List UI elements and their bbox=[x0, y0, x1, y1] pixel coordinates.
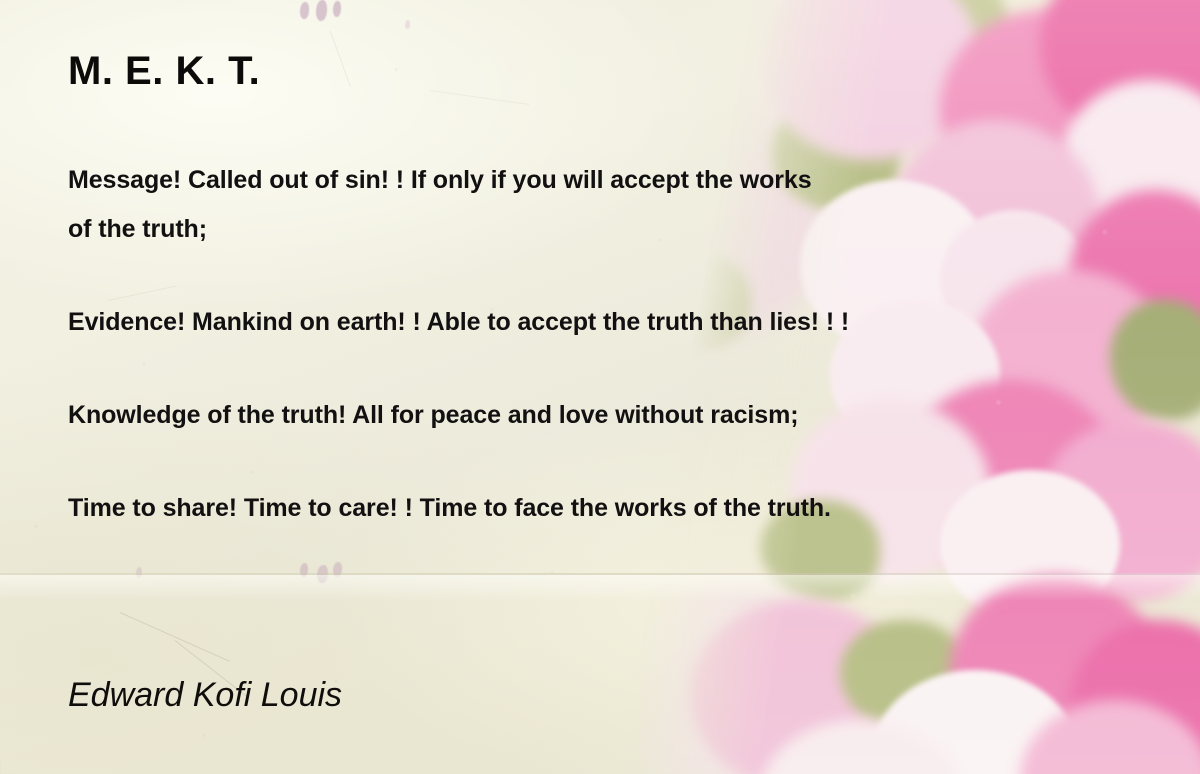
poem-body: Message! Called out of sin! ! If only if… bbox=[68, 156, 1128, 533]
stanza: Time to share! Time to care! ! Time to f… bbox=[68, 484, 1128, 533]
poem-line: of the truth; bbox=[68, 205, 1128, 254]
stanza: Knowledge of the truth! All for peace an… bbox=[68, 391, 1128, 440]
poem-line: Time to share! Time to care! ! Time to f… bbox=[68, 484, 1128, 533]
page-title: M. E. K. T. bbox=[68, 49, 260, 94]
poem-line: Knowledge of the truth! All for peace an… bbox=[68, 391, 1128, 440]
stanza: Evidence! Mankind on earth! ! Able to ac… bbox=[68, 298, 1128, 347]
poem-line: Evidence! Mankind on earth! ! Able to ac… bbox=[68, 298, 1128, 347]
image-tile-seam bbox=[0, 573, 1200, 575]
poem-line: Message! Called out of sin! ! If only if… bbox=[68, 156, 1128, 205]
stanza: Message! Called out of sin! ! If only if… bbox=[68, 156, 1128, 254]
poem-image-card: M. E. K. T. Message! Called out of sin! … bbox=[0, 0, 1200, 774]
author-signature: Edward Kofi Louis bbox=[68, 676, 342, 715]
